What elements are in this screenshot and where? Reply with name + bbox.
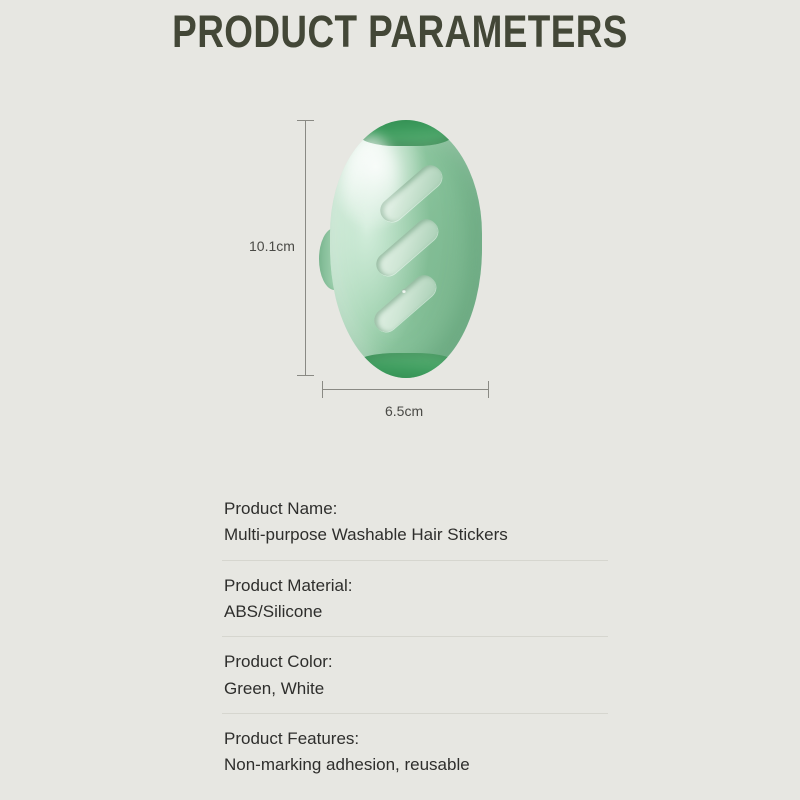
height-dimension-cap-top (297, 120, 314, 121)
spec-row-product-name: Product Name: Multi-purpose Washable Hai… (222, 484, 608, 561)
product-photo (330, 120, 482, 378)
spec-value: ABS/Silicone (224, 599, 608, 625)
spec-key: Product Name: (224, 496, 608, 522)
spec-row-product-color: Product Color: Green, White (222, 637, 608, 714)
width-dimension-cap-right (488, 381, 489, 398)
product-slot-2 (372, 215, 443, 281)
spec-value: Green, White (224, 676, 608, 702)
spec-key: Product Features: (224, 726, 608, 752)
spec-value: Multi-purpose Washable Hair Stickers (224, 522, 608, 548)
product-body (330, 120, 482, 378)
spec-value: Non-marking adhesion, reusable (224, 752, 608, 778)
product-illustration: 10.1cm 6.5cm (0, 75, 800, 445)
height-dimension-cap-bottom (297, 375, 314, 376)
page-title: PRODUCT PARAMETERS (72, 6, 728, 58)
spec-key: Product Color: (224, 649, 608, 675)
width-dimension-label: 6.5cm (385, 403, 423, 419)
product-slot-3 (370, 271, 441, 337)
spec-table: Product Name: Multi-purpose Washable Hai… (222, 484, 608, 790)
product-slot-1 (376, 161, 447, 227)
spec-row-product-material: Product Material: ABS/Silicone (222, 561, 608, 638)
width-dimension-cap-left (322, 381, 323, 398)
product-top-cap (360, 120, 452, 146)
product-pin-dot (402, 289, 406, 293)
height-dimension-label: 10.1cm (249, 238, 295, 254)
spec-row-product-features: Product Features: Non-marking adhesion, … (222, 714, 608, 790)
product-bottom-base (358, 353, 454, 378)
height-dimension-line (305, 120, 306, 376)
width-dimension-line (322, 389, 489, 390)
spec-key: Product Material: (224, 573, 608, 599)
